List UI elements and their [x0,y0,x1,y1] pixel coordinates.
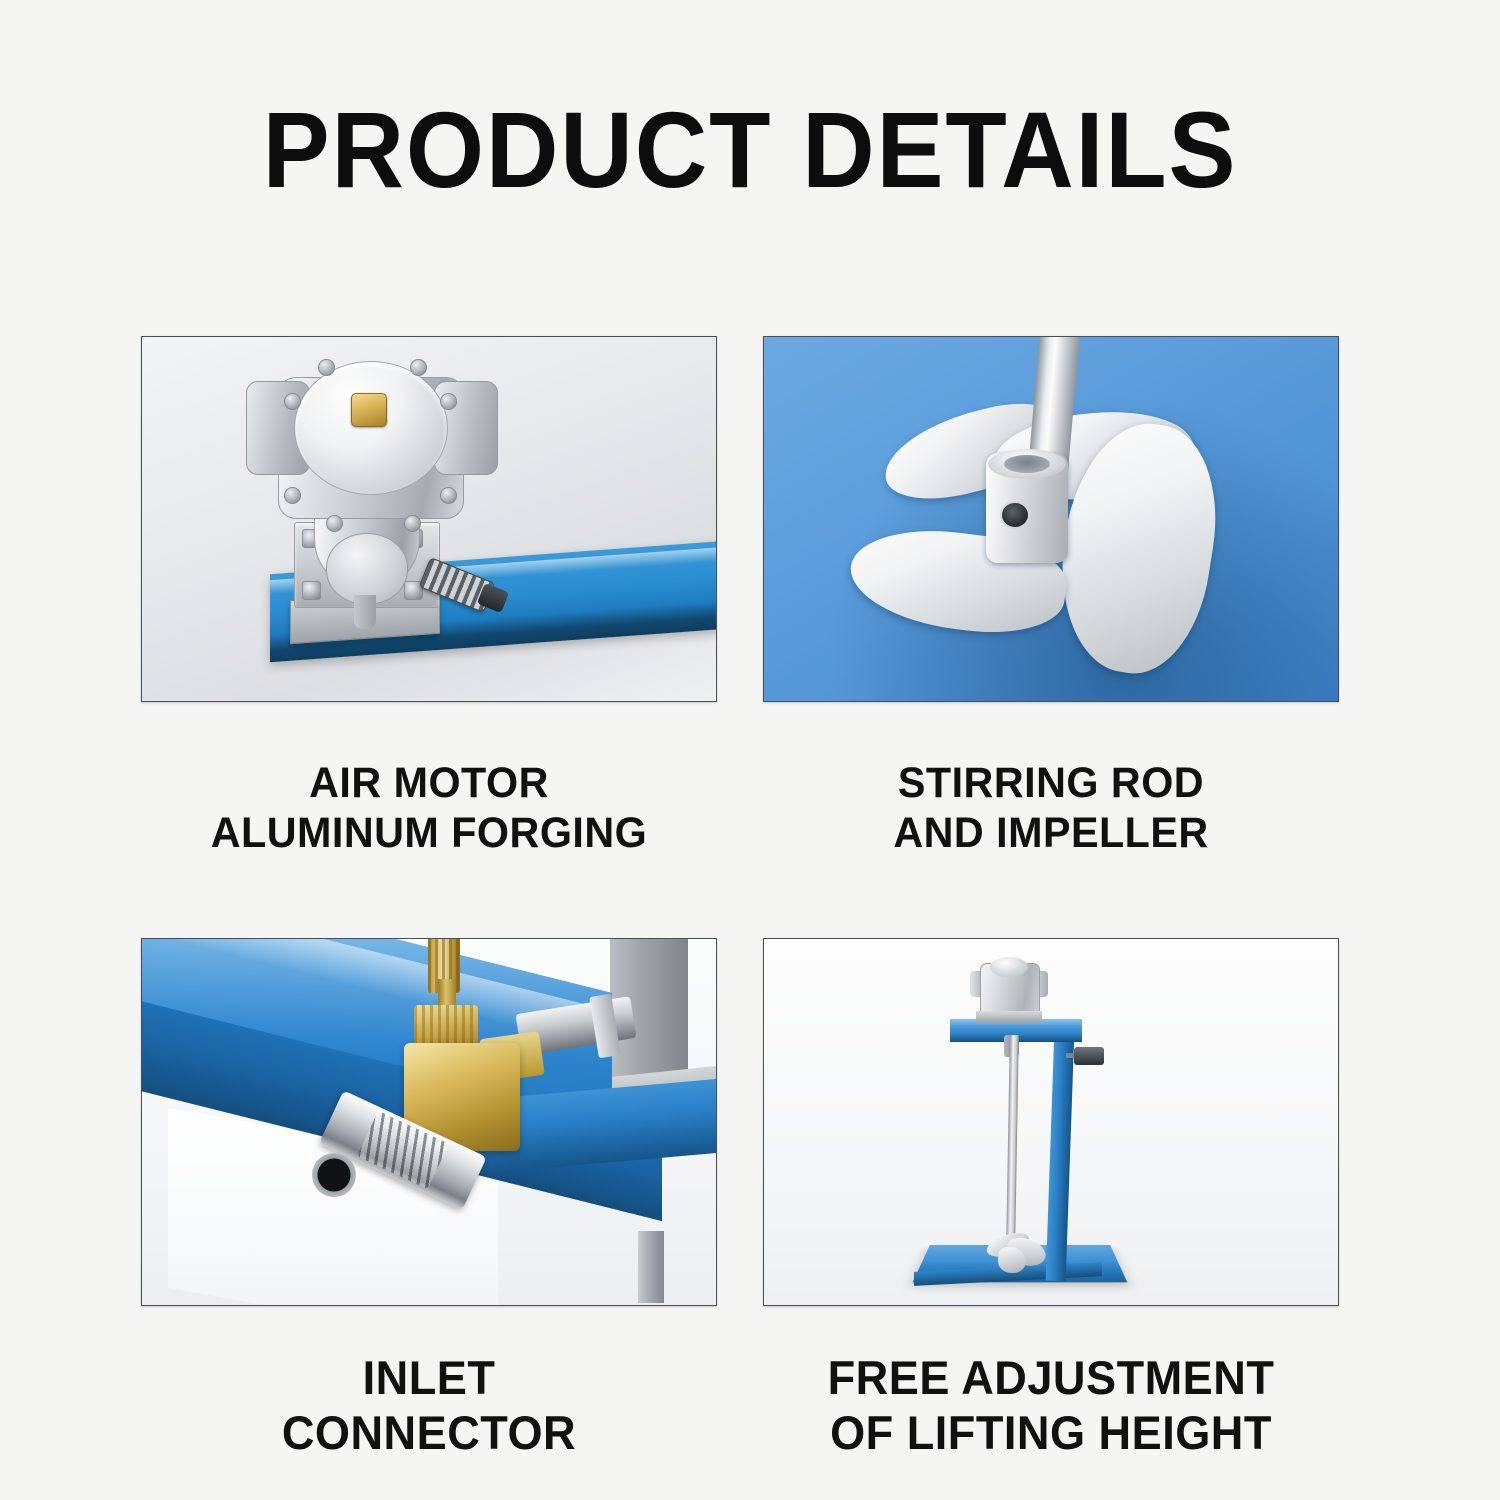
air-motor-top-cover [990,957,1028,977]
caption-line: AND IMPELLER [775,808,1328,858]
output-shaft-stub [354,595,376,629]
caption-line: OF LIFTING HEIGHT [775,1405,1328,1460]
stand-leg [638,1231,664,1303]
lifting-height-photo[interactable] [763,938,1339,1306]
page-title: PRODUCT DETAILS [53,96,1448,204]
inlet-connector-photo[interactable] [141,938,717,1306]
housing-screw [326,515,343,532]
caption-impeller: STIRRING ROD AND IMPELLER [775,758,1328,858]
brass-hex-plug [351,393,387,427]
flange-bolt [302,581,321,600]
housing-screw [440,487,457,504]
caption-line: STIRRING ROD [775,758,1328,808]
housing-screw [404,515,421,532]
product-details-page: PRODUCT DETAILS [0,0,1500,1500]
product-details-grid: AIR MOTOR ALUMINUM FORGING STIRRING ROD … [141,336,1339,1436]
housing-screw [284,393,301,410]
air-motor-top-cover [294,361,448,495]
caption-line: CONNECTOR [153,1405,706,1460]
caption-line: INLET [153,1350,706,1405]
product-detail-cell-impeller: STIRRING ROD AND IMPELLER [763,336,1339,858]
housing-screw [440,393,457,410]
motor-mount-plate [976,1011,1042,1023]
housing-screw [318,359,335,376]
air-motor-photo[interactable] [141,336,717,702]
caption-lifting-height: FREE ADJUSTMENT OF LIFTING HEIGHT [775,1350,1328,1460]
housing-screw [410,359,427,376]
product-detail-cell-air-motor: AIR MOTOR ALUMINUM FORGING [141,336,717,858]
hub-bore [1004,455,1050,473]
caption-inlet-connector: INLET CONNECTOR [153,1350,706,1460]
height-lock-knob [1074,1047,1104,1065]
product-detail-cell-lifting-height: FREE ADJUSTMENT OF LIFTING HEIGHT [763,938,1339,1460]
caption-line: FREE ADJUSTMENT [775,1350,1328,1405]
hub-set-screw [1002,503,1028,527]
caption-line: ALUMINUM FORGING [153,808,706,858]
product-detail-cell-inlet-connector: INLET CONNECTOR [141,938,717,1460]
caption-air-motor: AIR MOTOR ALUMINUM FORGING [153,758,706,858]
housing-screw [284,487,301,504]
stirring-rod-impeller-photo[interactable] [763,336,1339,702]
caption-line: AIR MOTOR [153,758,706,808]
